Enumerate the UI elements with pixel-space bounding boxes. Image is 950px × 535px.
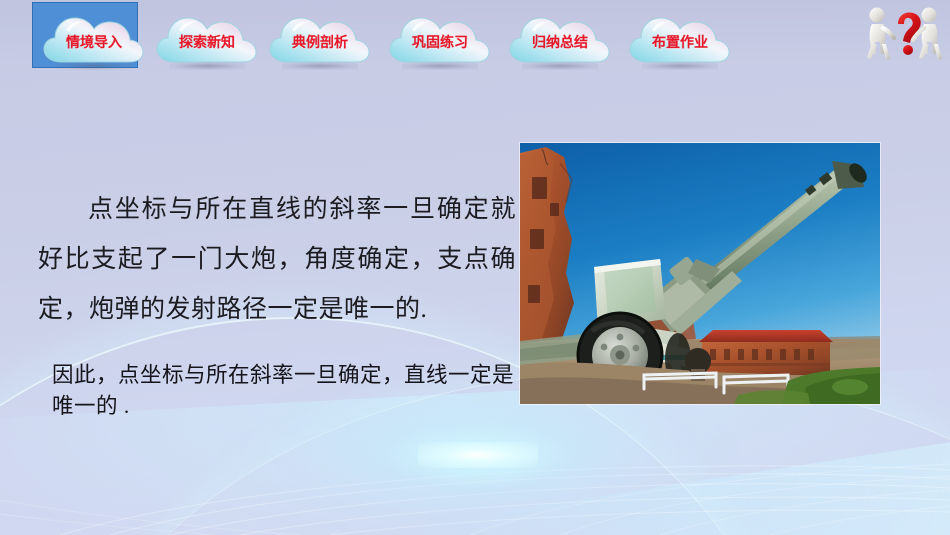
presentation-slide: 情境导入 探索新知 典例剖析	[0, 0, 950, 535]
nav-item-label: 情境导入	[42, 14, 146, 66]
nav-item-label: 归纳总结	[508, 14, 612, 66]
background-glow-core	[418, 442, 538, 468]
two-people-carrying-question-mark-icon	[862, 2, 946, 74]
nav-item-label: 布置作业	[628, 14, 732, 66]
cannon-illustration	[520, 143, 880, 404]
nav-item-homework[interactable]: 布置作业	[628, 14, 732, 64]
nav-item-summary[interactable]: 归纳总结	[508, 14, 612, 64]
slide-body-text: 点坐标与所在直线的斜率一旦确定就好比支起了一门大炮，角度确定，支点确定，炮弹的发…	[38, 160, 516, 444]
paragraph-conclusion: 因此，点坐标与所在斜率一旦确定，直线一定是唯一的 .	[52, 360, 516, 422]
far-building	[699, 330, 833, 375]
person-left-icon	[867, 8, 894, 61]
artillery-cannon-photo	[520, 143, 880, 404]
nav-item-explore-new[interactable]: 探索新知	[155, 14, 259, 64]
chapter-navigation: 情境导入 探索新知 典例剖析	[0, 0, 950, 78]
nav-item-example-analysis[interactable]: 典例剖析	[268, 14, 372, 64]
nav-item-label: 探索新知	[155, 14, 259, 66]
brick-ruin	[520, 147, 574, 343]
nav-item-situation-intro[interactable]: 情境导入	[42, 14, 146, 64]
nav-item-label: 巩固练习	[388, 14, 492, 66]
nav-item-consolidation-practice[interactable]: 巩固练习	[388, 14, 492, 64]
paragraph-analogy: 点坐标与所在直线的斜率一旦确定就好比支起了一门大炮，角度确定，支点确定，炮弹的发…	[38, 185, 516, 335]
nav-item-label: 典例剖析	[268, 14, 372, 66]
